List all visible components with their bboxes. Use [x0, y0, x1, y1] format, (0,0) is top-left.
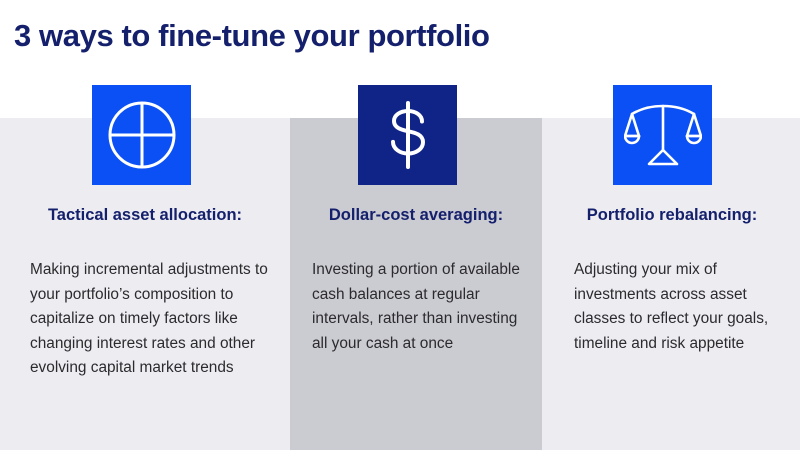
icon-tile-3: [613, 85, 712, 185]
column-heading-3: Portfolio rebalancing:: [556, 204, 788, 226]
balance-scale-icon: [624, 98, 702, 172]
columns-container: Tactical asset allocation: Making increm…: [0, 0, 800, 450]
quartered-circle-icon: [104, 97, 180, 173]
infographic-slide: 3 ways to fine-tune your portfolio Tacti…: [0, 0, 800, 450]
dollar-sign-icon: [370, 97, 446, 173]
column-body-1: Making incremental adjustments to your p…: [30, 258, 276, 381]
column-heading-2: Dollar-cost averaging:: [290, 204, 542, 226]
column-portfolio-rebalancing: Portfolio rebalancing: Adjusting your mi…: [556, 0, 788, 450]
column-body-2: Investing a portion of available cash ba…: [312, 258, 530, 356]
column-tactical-asset-allocation: Tactical asset allocation: Making increm…: [12, 0, 278, 450]
icon-tile-2: [358, 85, 457, 185]
column-heading-1: Tactical asset allocation:: [12, 204, 278, 226]
icon-tile-1: [92, 85, 191, 185]
column-body-3: Adjusting your mix of investments across…: [574, 258, 784, 356]
column-dollar-cost-averaging: Dollar-cost averaging: Investing a porti…: [290, 0, 542, 450]
